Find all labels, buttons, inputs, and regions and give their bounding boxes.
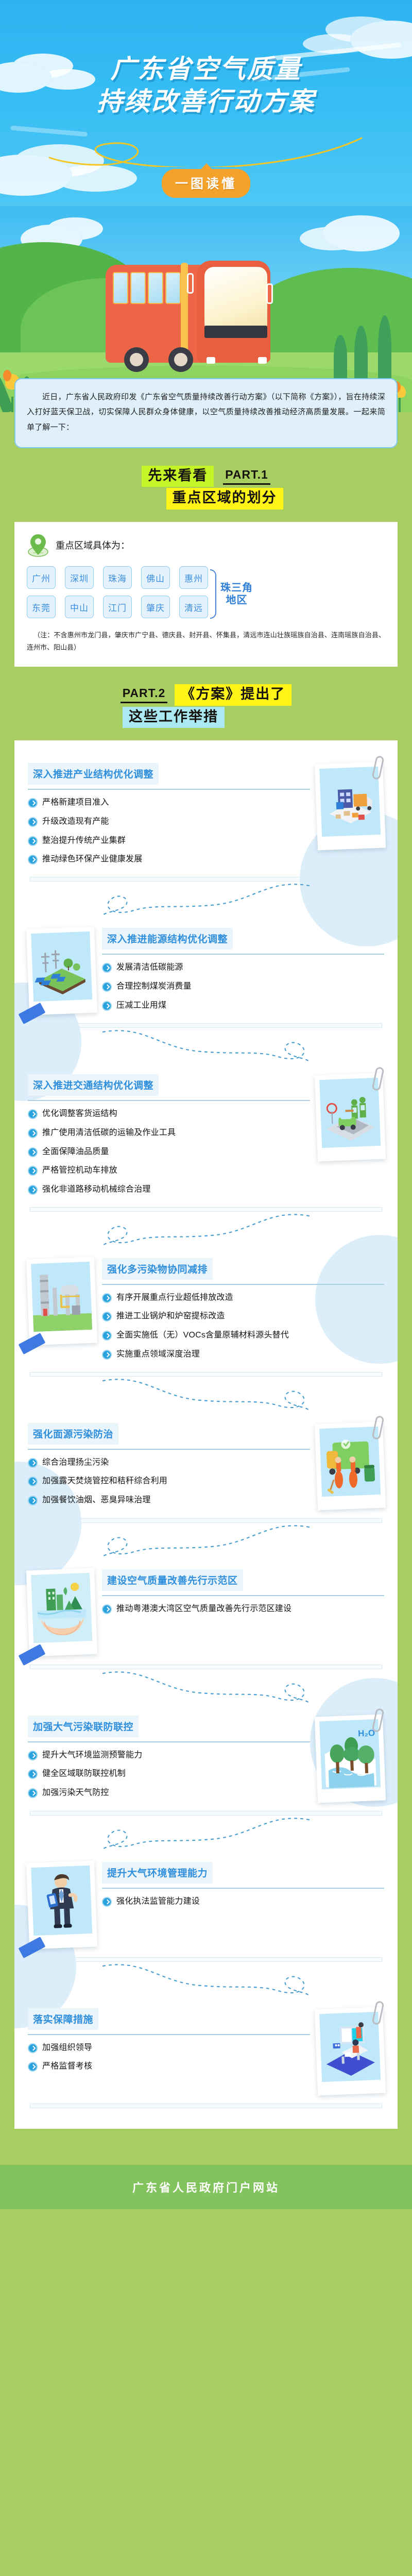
tree-decoration (378, 315, 391, 382)
curly-brace-icon (210, 569, 216, 619)
measure-bullet-label: 实施重点领域深度治理 (116, 1349, 200, 1361)
measure-bullet-item: 严格监督考核 (28, 2061, 310, 2073)
measure-bullet-item: 加强污染天气防控 (28, 1787, 310, 1799)
measure-bullet-item: 推进工业锅炉和炉窑提标改造 (102, 1311, 384, 1323)
bus-mirror (187, 273, 194, 294)
trees-and-river-illustration: H₂O (319, 1719, 381, 1789)
illustration-photo (28, 1862, 96, 1948)
measure-bullet-label: 整治提升传统产业集群 (42, 835, 126, 847)
city-chip[interactable]: 江门 (103, 596, 132, 618)
cloud-decoration (322, 215, 400, 251)
dotted-connector-decoration (98, 1212, 314, 1251)
photo-frame (26, 1568, 97, 1656)
chevron-right-icon (28, 1496, 38, 1505)
illustration-photo (316, 1074, 384, 1160)
measure-bullet-label: 推动粤港澳大湾区空气质量改善先行示范区建设 (116, 1603, 291, 1615)
chevron-right-icon (28, 2062, 38, 2072)
measure-block-title: 深入推进产业结构优化调整 (28, 763, 159, 785)
measure-block-text: 强化多污染物协同减排有序开展重点行业超低排放改造推进工业锅炉和炉窑提标改造全面实… (102, 1258, 384, 1363)
hero-banner: 广东省空气质量 持续改善行动方案 一图读懂 (0, 0, 412, 206)
office-desk-computer-illustration (319, 2011, 381, 2081)
measure-bullet-label: 推进工业锅炉和炉窑提标改造 (116, 1311, 225, 1323)
measure-bullet-item: 实施重点领域深度治理 (102, 1349, 384, 1361)
chevron-right-icon (102, 1331, 112, 1341)
chevron-right-icon (102, 963, 112, 973)
section-divider (102, 954, 384, 955)
measure-bullet-item: 加强餐饮油烟、恶臭异味治理 (28, 1495, 310, 1506)
section-end-bar (30, 1518, 382, 1523)
section-divider (28, 1100, 310, 1101)
section-divider (102, 1888, 384, 1889)
city-chip[interactable]: 珠海 (103, 566, 132, 589)
measure-block-text: 深入推进产业结构优化调整严格新建项目准入升级改造现有产能整治提升传统产业集群推动… (28, 763, 310, 868)
read-in-one-image-badge: 一图读懂 (162, 169, 250, 198)
measure-block-title: 加强大气污染联防联控 (28, 1716, 139, 1737)
measure-block-list: 深入推进产业结构优化调整严格新建项目准入升级改造现有产能整治提升传统产业集群推动… (14, 756, 398, 2108)
industrial-chimney-illustration (31, 1262, 92, 1332)
measure-bullet-label: 综合治理扬尘污染 (42, 1457, 109, 1469)
map-pin-icon (27, 533, 49, 557)
dotted-connector-decoration (98, 1028, 314, 1067)
measure-bullet-list: 综合治理扬尘污染加强露天焚烧管控和秸秆综合利用加强餐饮油烟、恶臭异味治理 (28, 1457, 310, 1506)
measure-bullet-label: 加强污染天气防控 (42, 1787, 109, 1799)
chevron-right-icon (28, 1788, 38, 1798)
bus-window (113, 272, 128, 304)
measure-bullet-label: 推广使用清洁低碳的运输及作业工具 (42, 1127, 176, 1139)
measure-block: 深入推进交通结构优化调整优化调整客货运结构推广使用清洁低碳的运输及作业工具全面保… (14, 1067, 398, 1203)
measure-block-text: 加强大气污染联防联控提升大气环境监测预警能力健全区域联防联控机制加强污染天气防控 (28, 1716, 310, 1801)
measure-bullet-list: 优化调整客货运结构推广使用清洁低碳的运输及作业工具全面保障油品质量严格管控机动车… (28, 1108, 310, 1196)
part1-header: 先来看看 PART.1 重点区域的划分 (0, 448, 412, 519)
measure-block: 深入推进产业结构优化调整严格新建项目准入升级改造现有产能整治提升传统产业集群推动… (14, 756, 398, 873)
region-group-name: 珠三角 地区 (220, 582, 253, 606)
photo-frame (26, 927, 97, 1015)
section-divider (28, 1449, 310, 1450)
measure-bullet-label: 健全区域联防联控机制 (42, 1768, 126, 1780)
chevron-right-icon (102, 1350, 112, 1360)
bus-windshield (204, 267, 267, 327)
measure-bullet-item: 合理控制煤炭消费量 (102, 981, 384, 993)
key-region-body: 广州 深圳 珠海 佛山 惠州 东莞 中山 江门 肇庆 清远 珠三角 地区 (27, 566, 385, 619)
city-chip[interactable]: 广州 (27, 566, 56, 589)
chevron-right-icon (28, 1477, 38, 1486)
measure-block: 建设空气质量改善先行示范区推动粤港澳大湾区空气质量改善先行示范区建设 (14, 1562, 398, 1660)
measure-bullet-label: 严格监督考核 (42, 2061, 92, 2073)
bus-mirror (266, 283, 273, 304)
street-cleaning-illustration (319, 1426, 381, 1496)
section-end-bar (30, 1207, 382, 1212)
illustration-photo (316, 763, 384, 849)
bus-window (130, 272, 146, 304)
measure-bullet-label: 强化执法监管能力建设 (116, 1896, 200, 1908)
businessman-with-clipboard-illustration (31, 1865, 92, 1935)
part2-title-line-2: 这些工作举措 (123, 707, 225, 728)
part1-title-line-1: 先来看看 (142, 466, 214, 487)
illustration-photo (28, 1258, 96, 1344)
measure-bullet-item: 压减工业用煤 (102, 1000, 384, 1012)
measure-bullet-item: 推动粤港澳大湾区空气质量改善先行示范区建设 (102, 1603, 384, 1615)
city-chip[interactable]: 佛山 (141, 566, 170, 589)
measure-block: 强化面源污染防治综合治理扬尘污染加强露天焚烧管控和秸秆综合利用加强餐饮油烟、恶臭… (14, 1416, 398, 1514)
intro-section: 近日，广东省人民政府印发《广东省空气质量持续改善行动方案》（以下简称《方案》），… (0, 378, 412, 448)
hands-holding-green-city-illustration (31, 1572, 92, 1642)
footer-text: 广东省人民政府门户网站 (132, 2179, 280, 2195)
chevron-right-icon (102, 1604, 112, 1614)
measure-bullet-item: 强化非道路移动机械综合治理 (28, 1184, 310, 1196)
measure-bullet-label: 加强餐饮油烟、恶臭异味治理 (42, 1495, 151, 1506)
illustration-photo (28, 928, 96, 1014)
measure-block-title: 强化多污染物协同减排 (102, 1258, 213, 1280)
yellow-swoosh-decoration (46, 135, 366, 167)
section-divider (28, 1741, 310, 1742)
measure-bullet-item: 升级改造现有产能 (28, 816, 310, 828)
city-chip[interactable]: 中山 (65, 596, 94, 618)
measure-bullet-item: 全面保障油品质量 (28, 1146, 310, 1158)
measure-block-text: 深入推进交通结构优化调整优化调整客货运结构推广使用清洁低碳的运输及作业工具全面保… (28, 1074, 310, 1198)
chevron-right-icon (28, 2043, 38, 2053)
measure-bullet-item: 推广使用清洁低碳的运输及作业工具 (28, 1127, 310, 1139)
measure-bullet-label: 严格新建项目准入 (42, 797, 109, 809)
measure-bullet-label: 升级改造现有产能 (42, 816, 109, 828)
infographic-page: 广东省空气质量 持续改善行动方案 一图读懂 (0, 0, 412, 2209)
section-divider (28, 2034, 310, 2035)
measure-bullet-label: 提升大气环境监测预警能力 (42, 1750, 142, 1761)
measure-bullet-list: 发展清洁低碳能源合理控制煤炭消费量压减工业用煤 (102, 962, 384, 1011)
measure-bullet-label: 压减工业用煤 (116, 1000, 166, 1012)
section-end-bar (30, 1957, 382, 1962)
chevron-right-icon (102, 1293, 112, 1303)
intro-paragraph: 近日，广东省人民政府印发《广东省空气质量持续改善行动方案》（以下简称《方案》），… (27, 389, 385, 435)
measure-bullet-label: 有序开展重点行业超低排放改造 (116, 1292, 233, 1304)
chevron-right-icon (102, 1897, 112, 1907)
bus-icon (106, 257, 283, 375)
bus-window (148, 272, 163, 304)
city-chip[interactable]: 深圳 (65, 566, 94, 589)
measure-block: 强化多污染物协同减排有序开展重点行业超低排放改造推进工业锅炉和炉窑提标改造全面实… (14, 1251, 398, 1368)
dotted-connector-decoration (98, 1523, 314, 1562)
measure-bullet-list: 有序开展重点行业超低排放改造推进工业锅炉和炉窑提标改造全面实施低（无）VOCs含… (102, 1292, 384, 1361)
section-divider (102, 1284, 384, 1285)
key-region-card: 重点区域具体为： 广州 深圳 珠海 佛山 惠州 东莞 中山 江门 肇庆 清远 珠… (14, 522, 398, 667)
section-end-bar (30, 2104, 382, 2108)
section-divider (28, 789, 310, 790)
tree-decoration (334, 335, 347, 382)
tree-decoration (354, 326, 368, 382)
city-chip[interactable]: 惠州 (179, 566, 208, 589)
dotted-connector-decoration (98, 1669, 314, 1708)
page-footer: 广东省人民政府门户网站 (0, 2165, 412, 2209)
illustration-photo: H₂O (316, 1716, 384, 1802)
measure-block-title: 强化面源污染防治 (28, 1423, 118, 1445)
measure-block: 深入推进能源结构优化调整发展清洁低碳能源合理控制煤炭消费量压减工业用煤 (14, 921, 398, 1019)
measure-bullet-item: 有序开展重点行业超低排放改造 (102, 1292, 384, 1304)
measure-block-title: 提升大气环境管理能力 (102, 1862, 213, 1884)
measure-block-text: 落实保障措施加强组织领导严格监督考核 (28, 2008, 310, 2075)
chevron-right-icon (28, 836, 38, 846)
measure-block-text: 建设空气质量改善先行示范区推动粤港澳大湾区空气质量改善先行示范区建设 (102, 1569, 384, 1617)
measure-bullet-label: 全面实施低（无）VOCs含量原辅材料源头替代 (116, 1330, 289, 1342)
measure-block-title: 落实保障措施 (28, 2008, 98, 2030)
region-brace-group: 珠三角 地区 (210, 566, 253, 619)
measure-block-text: 提升大气环境管理能力强化执法监管能力建设 (102, 1862, 384, 1910)
chevron-right-icon (102, 982, 112, 992)
measure-block: 加强大气污染联防联控提升大气环境监测预警能力健全区域联防联控机制加强污染天气防控… (14, 1708, 398, 1807)
part1-number: PART.1 (223, 468, 270, 485)
chevron-right-icon (28, 855, 38, 865)
section-divider (102, 1595, 384, 1596)
measure-block-text: 深入推进能源结构优化调整发展清洁低碳能源合理控制煤炭消费量压减工业用煤 (102, 928, 384, 1013)
chevron-right-icon (28, 1769, 38, 1779)
city-chip[interactable]: 肇庆 (141, 596, 170, 618)
measure-block: 落实保障措施加强组织领导严格监督考核 (14, 2001, 398, 2099)
measure-bullet-label: 强化非道路移动机械综合治理 (42, 1184, 151, 1196)
measure-bullet-item: 加强露天焚烧管控和秸秆综合利用 (28, 1476, 310, 1487)
measure-bullet-list: 提升大气环境监测预警能力健全区域联防联控机制加强污染天气防控 (28, 1750, 310, 1799)
measure-bullet-item: 健全区域联防联控机制 (28, 1768, 310, 1780)
measure-bullet-item: 加强组织领导 (28, 2042, 310, 2054)
measure-bullet-label: 推动绿色环保产业健康发展 (42, 854, 142, 866)
key-region-note: （注：不含惠州市龙门县，肇庆市广宁县、德庆县、封开县、怀集县，清远市连山壮族瑶族… (27, 629, 385, 653)
chevron-right-icon (28, 1751, 38, 1760)
measure-bullet-list: 加强组织领导严格监督考核 (28, 2042, 310, 2073)
chevron-right-icon (28, 1128, 38, 1138)
part1-title-line-2: 重点区域的划分 (166, 488, 283, 510)
region-group-name-line-1: 珠三角 (220, 582, 253, 594)
dotted-connector-decoration (98, 1962, 314, 2001)
chevron-right-icon (28, 1185, 38, 1195)
chevron-right-icon (28, 1166, 38, 1176)
measure-bullet-label: 合理控制煤炭消费量 (116, 981, 192, 993)
measure-block-text: 强化面源污染防治综合治理扬尘污染加强露天焚烧管控和秸秆综合利用加强餐饮油烟、恶臭… (28, 1423, 310, 1509)
measure-bullet-label: 全面保障油品质量 (42, 1146, 109, 1158)
illustration-photo (316, 1423, 384, 1509)
city-chip-list: 广州 深圳 珠海 佛山 惠州 东莞 中山 江门 肇庆 清远 (27, 566, 208, 618)
measure-block-title: 深入推进能源结构优化调整 (102, 928, 233, 950)
section-end-bar (30, 1023, 382, 1028)
chevron-right-icon (28, 1458, 38, 1468)
measure-bullet-item: 提升大气环境监测预警能力 (28, 1750, 310, 1761)
measure-bullet-item: 严格管控机动车排放 (28, 1165, 310, 1177)
illustration-photo (28, 1569, 96, 1655)
measure-bullet-list: 强化执法监管能力建设 (102, 1896, 384, 1908)
measure-bullet-label: 优化调整客货运结构 (42, 1108, 117, 1120)
bus-wheel (124, 347, 149, 372)
key-region-header: 重点区域具体为： (27, 533, 385, 557)
solar-wind-power-illustration (31, 931, 92, 1002)
measure-bullet-item: 优化调整客货运结构 (28, 1108, 310, 1120)
measures-card: 深入推进产业结构优化调整严格新建项目准入升级改造现有产能整治提升传统产业集群推动… (14, 740, 398, 2128)
photo-frame (26, 1860, 97, 1949)
city-chip[interactable]: 东莞 (27, 596, 56, 618)
measure-bullet-item: 发展清洁低碳能源 (102, 962, 384, 974)
chevron-right-icon (28, 798, 38, 808)
bus-lamp (258, 357, 267, 364)
measure-bullet-item: 强化执法监管能力建设 (102, 1896, 384, 1908)
chevron-right-icon (102, 1001, 112, 1011)
bus-wheel (168, 347, 193, 372)
bus-lamp (207, 357, 215, 364)
measure-bullet-label: 发展清洁低碳能源 (116, 962, 183, 974)
measure-block: 提升大气环境管理能力强化执法监管能力建设 (14, 1855, 398, 1953)
measure-bullet-list: 推动粤港澳大湾区空气质量改善先行示范区建设 (102, 1603, 384, 1615)
measure-bullet-item: 推动绿色环保产业健康发展 (28, 854, 310, 866)
region-group-name-line-2: 地区 (220, 594, 253, 606)
chevron-right-icon (28, 1109, 38, 1119)
section-end-bar (30, 1665, 382, 1669)
ev-charging-station-illustration (319, 1078, 381, 1148)
dotted-connector-decoration (98, 1816, 314, 1855)
illustration-photo (316, 2008, 384, 2094)
measure-bullet-list: 严格新建项目准入升级改造现有产能整治提升传统产业集群推动绿色环保产业健康发展 (28, 797, 310, 866)
measure-bullet-item: 严格新建项目准入 (28, 797, 310, 809)
intro-card: 近日，广东省人民政府印发《广东省空气质量持续改善行动方案》（以下简称《方案》），… (14, 378, 398, 448)
section-end-bar (30, 1811, 382, 1816)
chevron-right-icon (102, 1312, 112, 1321)
measure-bullet-label: 严格管控机动车排放 (42, 1165, 117, 1177)
measure-bullet-item: 全面实施低（无）VOCs含量原辅材料源头替代 (102, 1330, 384, 1342)
section-end-bar (30, 1372, 382, 1377)
chevron-right-icon (28, 1147, 38, 1157)
chevron-right-icon (28, 817, 38, 827)
title-line-1: 广东省空气质量 (0, 54, 412, 85)
bus-window (165, 272, 181, 304)
photo-frame (26, 1257, 97, 1345)
cloud-decoration (350, 21, 412, 59)
page-title: 广东省空气质量 持续改善行动方案 (0, 54, 412, 117)
measure-bullet-label: 加强组织领导 (42, 2042, 92, 2054)
dotted-connector-decoration (98, 882, 314, 921)
part2-number: PART.2 (121, 686, 168, 703)
title-line-2: 持续改善行动方案 (0, 86, 412, 117)
dotted-connector-decoration (98, 1377, 314, 1416)
measure-bullet-item: 综合治理扬尘污染 (28, 1457, 310, 1469)
measure-block-title: 深入推进交通结构优化调整 (28, 1074, 159, 1096)
measure-bullet-label: 加强露天焚烧管控和秸秆综合利用 (42, 1476, 167, 1487)
measure-block-title: 建设空气质量改善先行示范区 (102, 1569, 243, 1591)
part2-title-line-1: 《方案》提出了 (175, 684, 291, 706)
part2-header: PART.2 《方案》提出了 这些工作举措 (0, 667, 412, 737)
city-chip[interactable]: 清远 (179, 596, 208, 618)
measure-bullet-item: 整治提升传统产业集群 (28, 835, 310, 847)
factory-logistics-illustration (319, 767, 381, 837)
bus-grill (204, 326, 267, 338)
key-region-label: 重点区域具体为： (56, 538, 130, 552)
